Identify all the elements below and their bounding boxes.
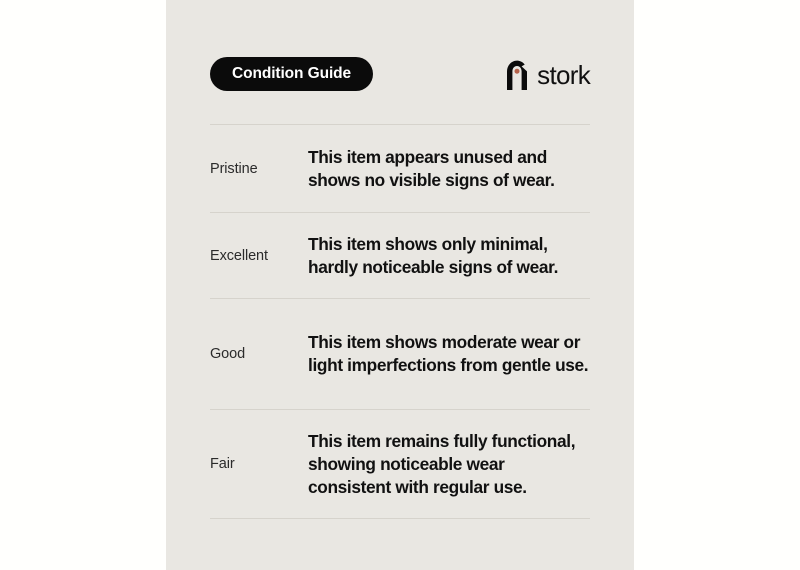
table-row: Good This item shows moderate wear or li…: [210, 299, 590, 409]
condition-label: Fair: [210, 456, 308, 472]
table-row: Fair This item remains fully functional,…: [210, 410, 590, 518]
condition-guide-badge[interactable]: Condition Guide: [210, 57, 373, 91]
condition-description: This item shows only minimal, hardly not…: [308, 233, 590, 279]
condition-label: Excellent: [210, 248, 308, 264]
condition-label: Pristine: [210, 161, 308, 177]
condition-description: This item appears unused and shows no vi…: [308, 146, 590, 192]
condition-description: This item shows moderate wear or light i…: [308, 331, 590, 377]
card-header: Condition Guide stork: [210, 57, 590, 91]
divider-bottom: [210, 518, 590, 519]
condition-description: This item remains fully functional, show…: [308, 430, 590, 499]
condition-guide-table: Pristine This item appears unused and sh…: [210, 124, 590, 519]
brand-lockup: stork: [504, 56, 590, 92]
table-row: Pristine This item appears unused and sh…: [210, 125, 590, 212]
stork-arch-logo-icon: [504, 59, 530, 90]
condition-label: Good: [210, 346, 308, 362]
page-root: Condition Guide stork Pristine This item…: [0, 0, 800, 570]
condition-guide-badge-label: Condition Guide: [232, 65, 351, 83]
table-row: Excellent This item shows only minimal, …: [210, 213, 590, 298]
brand-name: stork: [537, 62, 590, 88]
condition-guide-card: Condition Guide stork Pristine This item…: [166, 0, 634, 570]
